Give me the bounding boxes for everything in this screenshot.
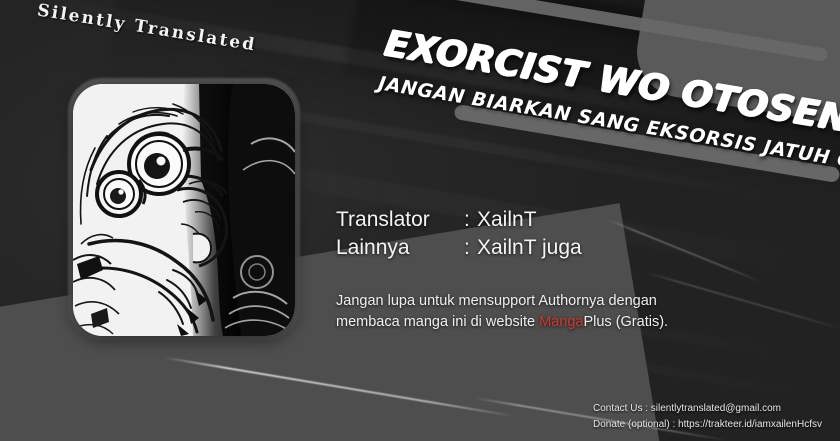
credit-row-lainnya: Lainnya : XailnT juga bbox=[336, 234, 582, 262]
credit-label: Lainnya bbox=[336, 234, 464, 262]
manga-panel-artwork bbox=[73, 84, 295, 336]
credit-separator: : bbox=[464, 234, 477, 262]
credit-separator: : bbox=[464, 206, 477, 234]
support-line-1: Jangan lupa untuk mensupport Authornya d… bbox=[336, 291, 668, 312]
manga-artwork-icon bbox=[73, 84, 295, 336]
support-line-2: membaca manga ini di website MangaPlus (… bbox=[336, 312, 668, 333]
support-note: Jangan lupa untuk mensupport Authornya d… bbox=[336, 291, 668, 332]
mangaplus-brand-highlight: Manga bbox=[539, 314, 583, 330]
footer-contact-block: Contact Us : silentlytranslated@gmail.co… bbox=[593, 401, 822, 433]
credit-label: Translator bbox=[336, 206, 464, 234]
credit-row-translator: Translator : XailnT bbox=[336, 206, 582, 234]
credit-page: Silently Translated bbox=[0, 0, 840, 441]
contact-email-line[interactable]: Contact Us : silentlytranslated@gmail.co… bbox=[593, 401, 822, 417]
credit-value: XailnT bbox=[477, 206, 537, 234]
credits-block: Translator : XailnT Lainnya : XailnT jug… bbox=[336, 206, 582, 261]
support-line-2-suffix: Plus (Gratis). bbox=[583, 314, 668, 330]
support-line-2-prefix: membaca manga ini di website bbox=[336, 314, 539, 330]
credit-value: XailnT juga bbox=[477, 234, 582, 262]
donate-link-line[interactable]: Donate (optional) : https://trakteer.id/… bbox=[593, 417, 822, 433]
